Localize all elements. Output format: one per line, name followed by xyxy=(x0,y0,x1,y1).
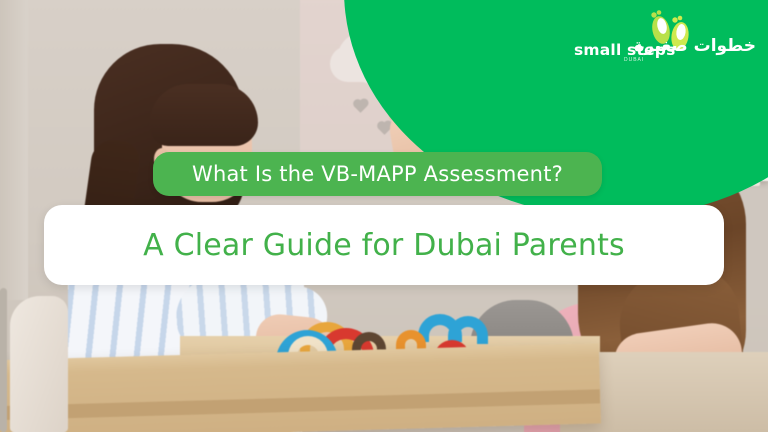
wall-corner-shadow xyxy=(0,0,28,300)
chair-back xyxy=(10,296,68,432)
headline-primary-text: What Is the VB-MAPP Assessment? xyxy=(192,162,563,186)
brand-logo[interactable]: small steps DUBAI خطوات صغيرة xyxy=(572,14,756,70)
logo-sublabel: DUBAI xyxy=(624,57,644,63)
table-surface xyxy=(0,343,601,432)
headline-secondary-banner: A Clear Guide for Dubai Parents xyxy=(44,205,724,285)
logo-text-ar: خطوات صغيرة xyxy=(634,36,756,56)
chair-frame xyxy=(0,288,7,432)
banner-image: small steps DUBAI خطوات صغيرة What Is th… xyxy=(0,0,768,432)
heart-icon xyxy=(354,100,367,113)
headline-primary-banner: What Is the VB-MAPP Assessment? xyxy=(153,152,602,196)
headline-secondary-text: A Clear Guide for Dubai Parents xyxy=(143,228,625,263)
